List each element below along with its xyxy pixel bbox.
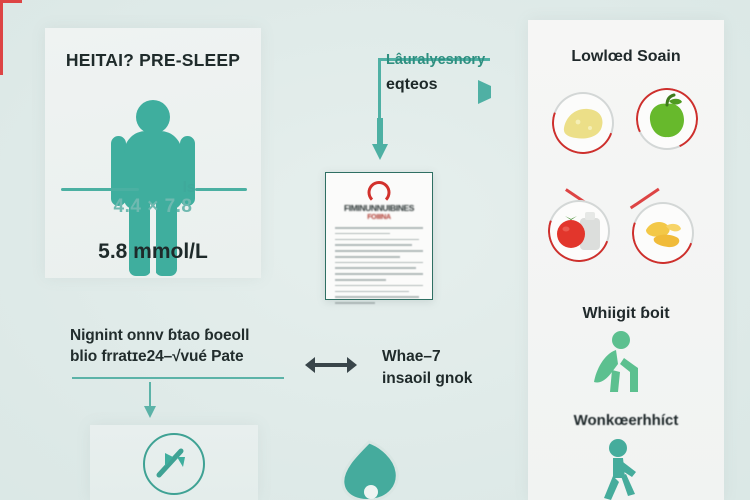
food-panel-title: Lowlœd Soain [528, 48, 724, 66]
food-ring [552, 92, 614, 154]
document-title: FIMINUNNUIBINES [334, 203, 424, 213]
down-arrow-icon [144, 382, 156, 418]
food-ring [548, 200, 610, 262]
infographic-canvas: HEITAI? PRE-SLEEP ls 4.4 × 7.8 5.8 mmol/… [0, 0, 750, 500]
activity-title: Whiigit ɓoit [528, 305, 724, 323]
pre-sleep-title: HEITAI? PRE-SLEEP [45, 50, 261, 71]
pre-sleep-panel: HEITAI? PRE-SLEEP ls 4.4 × 7.8 5.8 mmol/… [45, 28, 261, 278]
measurement-rule: ls [61, 188, 247, 191]
flow-down-arrow-icon [372, 118, 388, 160]
target-range-value: 4.4 × 7.8 [45, 196, 261, 218]
food-ring [632, 202, 694, 264]
comparison-label-line-2: insaoil ɡnok [382, 370, 472, 388]
running-person-icon [588, 330, 648, 394]
injection-pen-icon [145, 435, 203, 493]
food-connector-horizontal [0, 0, 22, 3]
comparison-label-line-1: Whae–7 [382, 348, 441, 366]
right-arrow-icon [478, 80, 507, 104]
arrow-head-right [347, 357, 357, 373]
rule-bar-right [195, 188, 247, 191]
arrow-head [372, 144, 388, 160]
night-note-line-1: Nignint onnv ɓtao ɓoeoll [70, 325, 295, 346]
flow-label-line-1: Lâuralyesnory [386, 52, 485, 68]
document-card[interactable]: FIMINUNNUIBINES FOIIINA [325, 172, 433, 300]
food-ring [636, 88, 698, 150]
arrow-shaft [149, 382, 151, 408]
food-item-cheese[interactable] [552, 92, 614, 154]
walk-title: Wonkœerhhíct [528, 412, 724, 429]
food-item-tomato-milk[interactable] [548, 200, 610, 262]
rule-bar-left [61, 188, 139, 191]
document-subtitle: FOIIINA [334, 214, 424, 221]
device-panel [90, 425, 258, 500]
night-note-line-2: blio frratɪe24–√vué Pate [70, 346, 295, 367]
food-item-green-apple[interactable] [636, 88, 698, 150]
teal-drop-icon [335, 440, 407, 500]
glucose-reading-value: 5.8 mmol/L [45, 240, 261, 264]
person-head [136, 100, 170, 134]
food-connector-vertical-left [0, 3, 3, 39]
food-item-potato-chips[interactable] [632, 202, 694, 264]
document-body-lines [335, 227, 423, 291]
bidirectional-arrow-icon [305, 357, 357, 373]
food-connector-vertical-right [0, 39, 3, 75]
night-note-underline [72, 377, 284, 379]
night-note-text: Nignint onnv ɓtao ɓoeoll blio frratɪe24–… [70, 325, 295, 367]
walking-person-icon [592, 438, 648, 500]
arrow-head [144, 406, 156, 418]
arrow-shaft [377, 118, 383, 146]
arrow-shaft [313, 363, 349, 367]
flow-label-line-2: eqteos [386, 76, 438, 94]
red-circle-logo-icon [368, 181, 391, 204]
range-glyph-icon: ls [179, 179, 199, 196]
device-circle-frame [143, 433, 205, 495]
